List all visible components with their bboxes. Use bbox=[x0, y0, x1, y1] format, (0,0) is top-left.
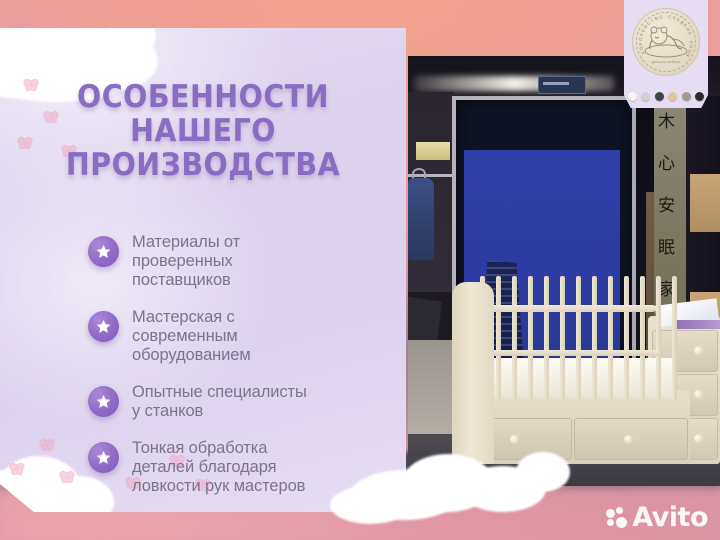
list-item: Материалы от проверенных поставщиков bbox=[88, 233, 378, 290]
crib-rail-middle bbox=[474, 350, 660, 356]
photo-shelf-box bbox=[416, 142, 450, 160]
text-panel: ОСОБЕННОСТИ НАШЕГО ПРОИЗВОДСТВА Материал… bbox=[0, 28, 406, 512]
photo-sign bbox=[538, 76, 586, 94]
crib-purple-accent bbox=[674, 320, 720, 329]
cloud-decoration-bottom-center bbox=[330, 452, 570, 532]
swatch-beige[interactable] bbox=[668, 92, 677, 101]
list-item: Мастерская с современным оборудованием bbox=[88, 308, 378, 365]
star-icon bbox=[88, 236, 119, 267]
product-photo: 木心 安眠 家具 室 bbox=[408, 56, 720, 486]
star-icon bbox=[88, 442, 119, 473]
photo-garment bbox=[408, 178, 434, 260]
list-item: Опытные специалисты у станков bbox=[88, 383, 378, 421]
listing-image: 木心 安眠 家具 室 bbox=[0, 0, 720, 540]
avito-dots-icon bbox=[606, 507, 628, 529]
seal-subtitle: детская мебель bbox=[633, 60, 699, 64]
crib-headboard bbox=[452, 282, 494, 464]
swatch-greybrown[interactable] bbox=[682, 92, 691, 101]
star-icon bbox=[88, 311, 119, 342]
crib-knob bbox=[694, 346, 703, 355]
list-item-label: Тонкая обработка деталей благодаря ловко… bbox=[132, 439, 305, 496]
photo-wood-block bbox=[690, 174, 720, 232]
avito-wordmark: Avito bbox=[632, 504, 708, 531]
crib-knob bbox=[510, 435, 519, 444]
page-title: ОСОБЕННОСТИ НАШЕГО ПРОИЗВОДСТВА bbox=[16, 80, 390, 182]
star-icon bbox=[88, 386, 119, 417]
crib-rail bbox=[480, 276, 678, 400]
swatch-white[interactable] bbox=[628, 92, 637, 101]
crib-knob bbox=[694, 390, 703, 399]
crib-knob bbox=[624, 435, 633, 444]
avito-watermark: Avito bbox=[606, 504, 708, 531]
color-swatch-row[interactable] bbox=[628, 92, 704, 101]
sleeping-bear-icon bbox=[642, 21, 690, 61]
brand-badge: КОРОЛЕВСТВО СЛАДКИХ СНОВ детская мебель bbox=[624, 0, 708, 108]
list-item-label: Мастерская с современным оборудованием bbox=[132, 308, 251, 365]
swatch-lightgrey[interactable] bbox=[641, 92, 650, 101]
swatch-black[interactable] bbox=[695, 92, 704, 101]
crib-rail-top bbox=[476, 305, 656, 312]
crib-knob bbox=[694, 434, 703, 443]
crib bbox=[452, 266, 720, 464]
list-item-label: Материалы от проверенных поставщиков bbox=[132, 233, 240, 290]
photo-floor-light bbox=[408, 340, 458, 440]
swatch-darkslate[interactable] bbox=[655, 92, 664, 101]
list-item-label: Опытные специалисты у станков bbox=[132, 383, 307, 421]
brand-seal: КОРОЛЕВСТВО СЛАДКИХ СНОВ детская мебель bbox=[632, 8, 700, 76]
